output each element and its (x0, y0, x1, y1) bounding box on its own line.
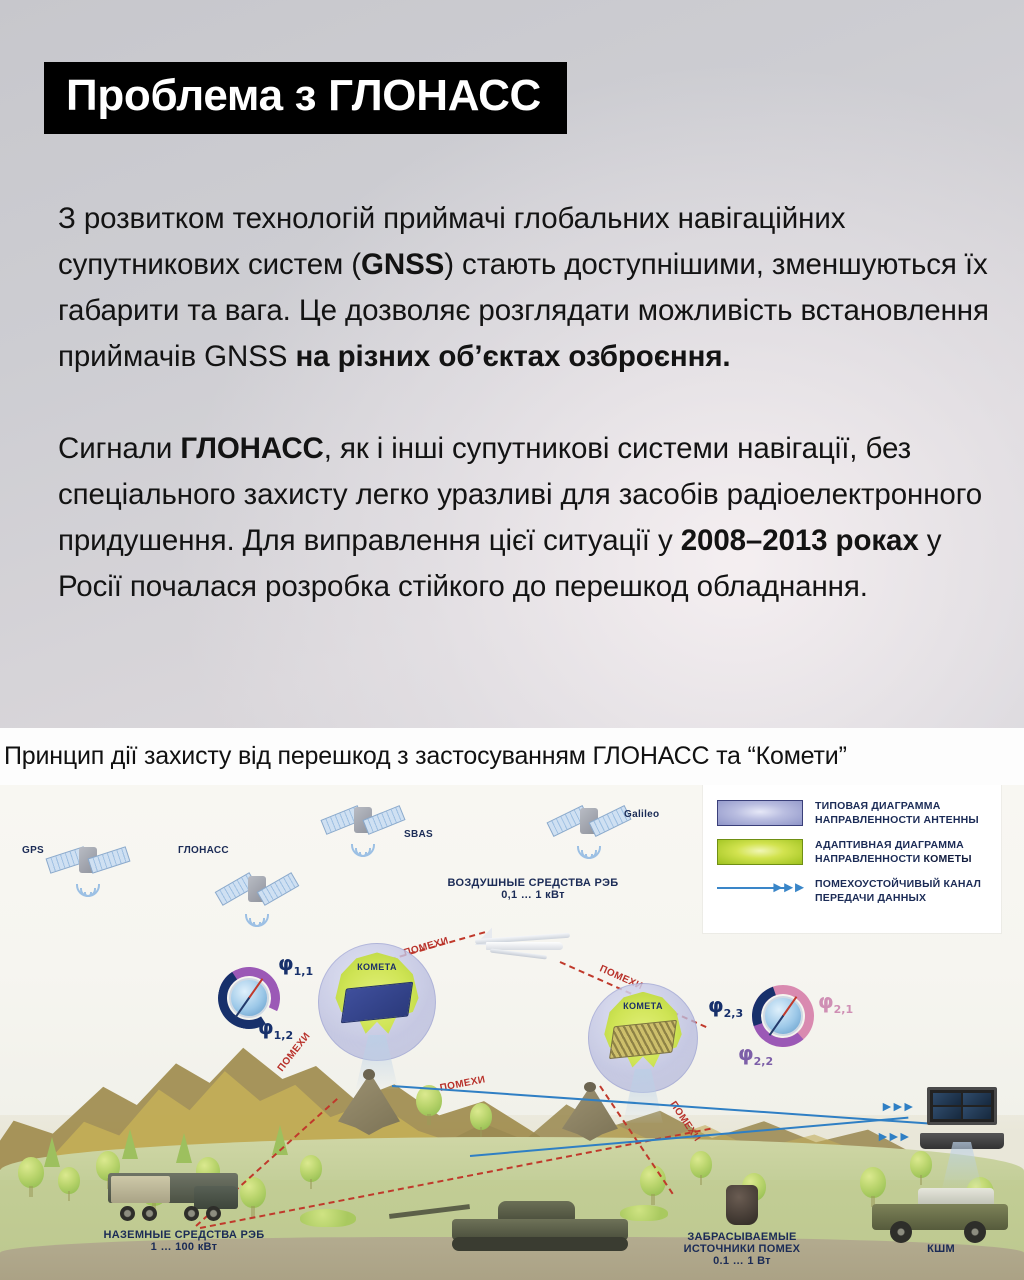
label-expendable-jammers: ЗАБРАСЫВАЕМЫЕ ИСТОЧНИКИ ПОМЕХ 0.1 … 1 Вт (662, 1231, 822, 1267)
label-expendable-power: 0.1 … 1 Вт (662, 1255, 822, 1267)
legend-item-adaptive-pattern: АДАПТИВНАЯ ДИАГРАММА НАПРАВЛЕННОСТИ КОМЕ… (717, 838, 989, 866)
tree-icon (416, 1085, 442, 1125)
phi-symbol: φ (258, 1015, 274, 1039)
legend-adaptive-line1: АДАПТИВНАЯ ДИАГРАММА (815, 838, 972, 852)
laptop-icon (920, 1087, 1004, 1149)
satellite-label-galileo: Galileo (624, 809, 659, 820)
figure-caption: Принцип дії захисту від перешкод з засто… (0, 742, 847, 771)
ground-ew-vehicle-icon (108, 1173, 238, 1221)
figure-legend: ТИПОВАЯ ДИАГРАММА НАПРАВЛЕННОСТИ АНТЕННЫ… (703, 785, 1001, 933)
bush-icon (300, 1209, 356, 1227)
tree-icon (300, 1155, 322, 1189)
compass-right-icon (752, 985, 814, 1047)
loitering-munition-icon (562, 1085, 618, 1141)
label-expendable-line2: ИСТОЧНИКИ ПОМЕХ (662, 1243, 822, 1255)
conifer-icon (176, 1133, 192, 1163)
kometa-node-label: КОМЕТА (588, 1001, 698, 1011)
tree-icon (58, 1167, 80, 1201)
phi-symbol: φ (278, 951, 294, 975)
paragraph-emphasis: GNSS (361, 248, 444, 281)
phi-subscript: 2,3 (724, 1007, 744, 1020)
label-ground-ew-title: НАЗЕМНЫЕ СРЕДСТВА РЭБ (104, 1229, 265, 1241)
phi-subscript: 2,2 (754, 1055, 774, 1068)
label-air-ew-power: 0,1 … 1 кВт (418, 889, 648, 901)
angle-phi-1-2: φ1,2 (258, 1015, 293, 1042)
conifer-icon (44, 1137, 60, 1167)
legend-swatch-typical-pattern (717, 800, 803, 826)
paragraph-2: Сигнали ГЛОНАСС, як і інші супутникові с… (58, 426, 1002, 610)
data-link-arrowhead: ►►► (880, 1098, 913, 1114)
page-title-text: Проблема з ГЛОНАСС (66, 74, 541, 118)
legend-typical-line2: НАПРАВЛЕННОСТИ АНТЕННЫ (815, 813, 979, 827)
tree-icon (18, 1157, 44, 1197)
data-link-arrowhead: ►►► (876, 1128, 909, 1144)
figure-infographic: GPS ГЛОНАСС SBAS Galileo ВОЗДУШНЫЕ СРЕДС… (0, 785, 1024, 1280)
legend-adaptive-line2: НАПРАВЛЕННОСТИ КОМЕТЫ (815, 852, 972, 866)
phi-subscript: 1,1 (294, 965, 314, 978)
label-air-ew: ВОЗДУШНЫЕ СРЕДСТВА РЭБ 0,1 … 1 кВт (418, 877, 648, 901)
legend-item-data-channel: ►►► ПОМЕХОУСТОЙЧИВЫЙ КАНАЛ ПЕРЕДАЧИ ДАНН… (717, 877, 989, 905)
angle-phi-1-1: φ1,1 (278, 951, 313, 978)
paragraph-emphasis: ГЛОНАСС (180, 432, 323, 465)
phi-symbol: φ (738, 1041, 754, 1065)
kometa-node-left: КОМЕТА (318, 943, 436, 1061)
satellite-sbas-icon (330, 803, 396, 837)
legend-swatch-data-channel: ►►► (717, 878, 803, 898)
label-ground-ew-power: 1 … 100 кВт (74, 1241, 294, 1253)
satellite-label-glonass: ГЛОНАСС (178, 845, 229, 856)
satellite-label-sbas: SBAS (404, 829, 433, 840)
paragraph-1: З розвитком технологій приймачі глобальн… (58, 196, 1002, 380)
phi-subscript: 2,1 (834, 1003, 854, 1016)
command-vehicle-icon (872, 1185, 1008, 1243)
legend-arrow-icon: ►►► (770, 879, 803, 897)
phi-symbol: φ (708, 993, 724, 1017)
phi-symbol: φ (818, 989, 834, 1013)
conifer-icon (122, 1129, 138, 1159)
tree-icon (470, 1103, 492, 1137)
legend-channel-line1: ПОМЕХОУСТОЙЧИВЫЙ КАНАЛ (815, 877, 981, 891)
satellite-label-gps: GPS (22, 845, 44, 856)
paragraph-text: Сигнали (58, 432, 180, 465)
page-title: Проблема з ГЛОНАСС (44, 62, 567, 134)
label-ground-ew: НАЗЕМНЫЕ СРЕДСТВА РЭБ 1 … 100 кВт (74, 1229, 294, 1253)
legend-channel-line2: ПЕРЕДАЧИ ДАННЫХ (815, 891, 981, 905)
kometa-node-right: КОМЕТА (588, 983, 698, 1093)
angle-phi-2-3: φ2,3 (708, 993, 743, 1020)
satellite-glonass-icon (226, 871, 288, 907)
phi-subscript: 1,2 (274, 1029, 294, 1042)
tree-icon (640, 1165, 666, 1205)
legend-adaptive-prefix: НАПРАВЛЕННОСТИ (815, 853, 923, 865)
expendable-jammer-icon (726, 1185, 758, 1225)
tree-icon (690, 1151, 712, 1185)
legend-swatch-adaptive-pattern (717, 839, 803, 865)
satellite-galileo-icon (554, 803, 624, 839)
uav-jammer-icon (466, 920, 576, 972)
legend-typical-line1: ТИПОВАЯ ДИАГРАММА (815, 799, 979, 813)
label-expendable-line1: ЗАБРАСЫВАЕМЫЕ (687, 1231, 796, 1243)
kometa-node-label: КОМЕТА (318, 962, 436, 972)
label-command-vehicle: КШМ (886, 1243, 996, 1255)
tree-icon (910, 1151, 932, 1185)
legend-item-typical-pattern: ТИПОВАЯ ДИАГРАММА НАПРАВЛЕННОСТИ АНТЕННЫ (717, 799, 989, 827)
label-air-ew-title: ВОЗДУШНЫЕ СРЕДСТВА РЭБ (448, 877, 619, 889)
paragraph-emphasis: 2008–2013 роках (681, 524, 919, 557)
angle-phi-2-2: φ2,2 (738, 1041, 773, 1068)
tank-icon (452, 1189, 628, 1251)
figure-caption-bar: Принцип дії захисту від перешкод з засто… (0, 728, 1024, 785)
angle-phi-2-1: φ2,1 (818, 989, 853, 1016)
paragraph-emphasis: на різних об’єктах озброєння. (295, 340, 730, 373)
legend-adaptive-bold: КОМЕТЫ (923, 853, 971, 865)
satellite-gps-icon (58, 843, 118, 877)
article-body: З розвитком технологій приймачі глобальн… (58, 196, 1002, 610)
loitering-munition-icon (338, 1073, 400, 1135)
